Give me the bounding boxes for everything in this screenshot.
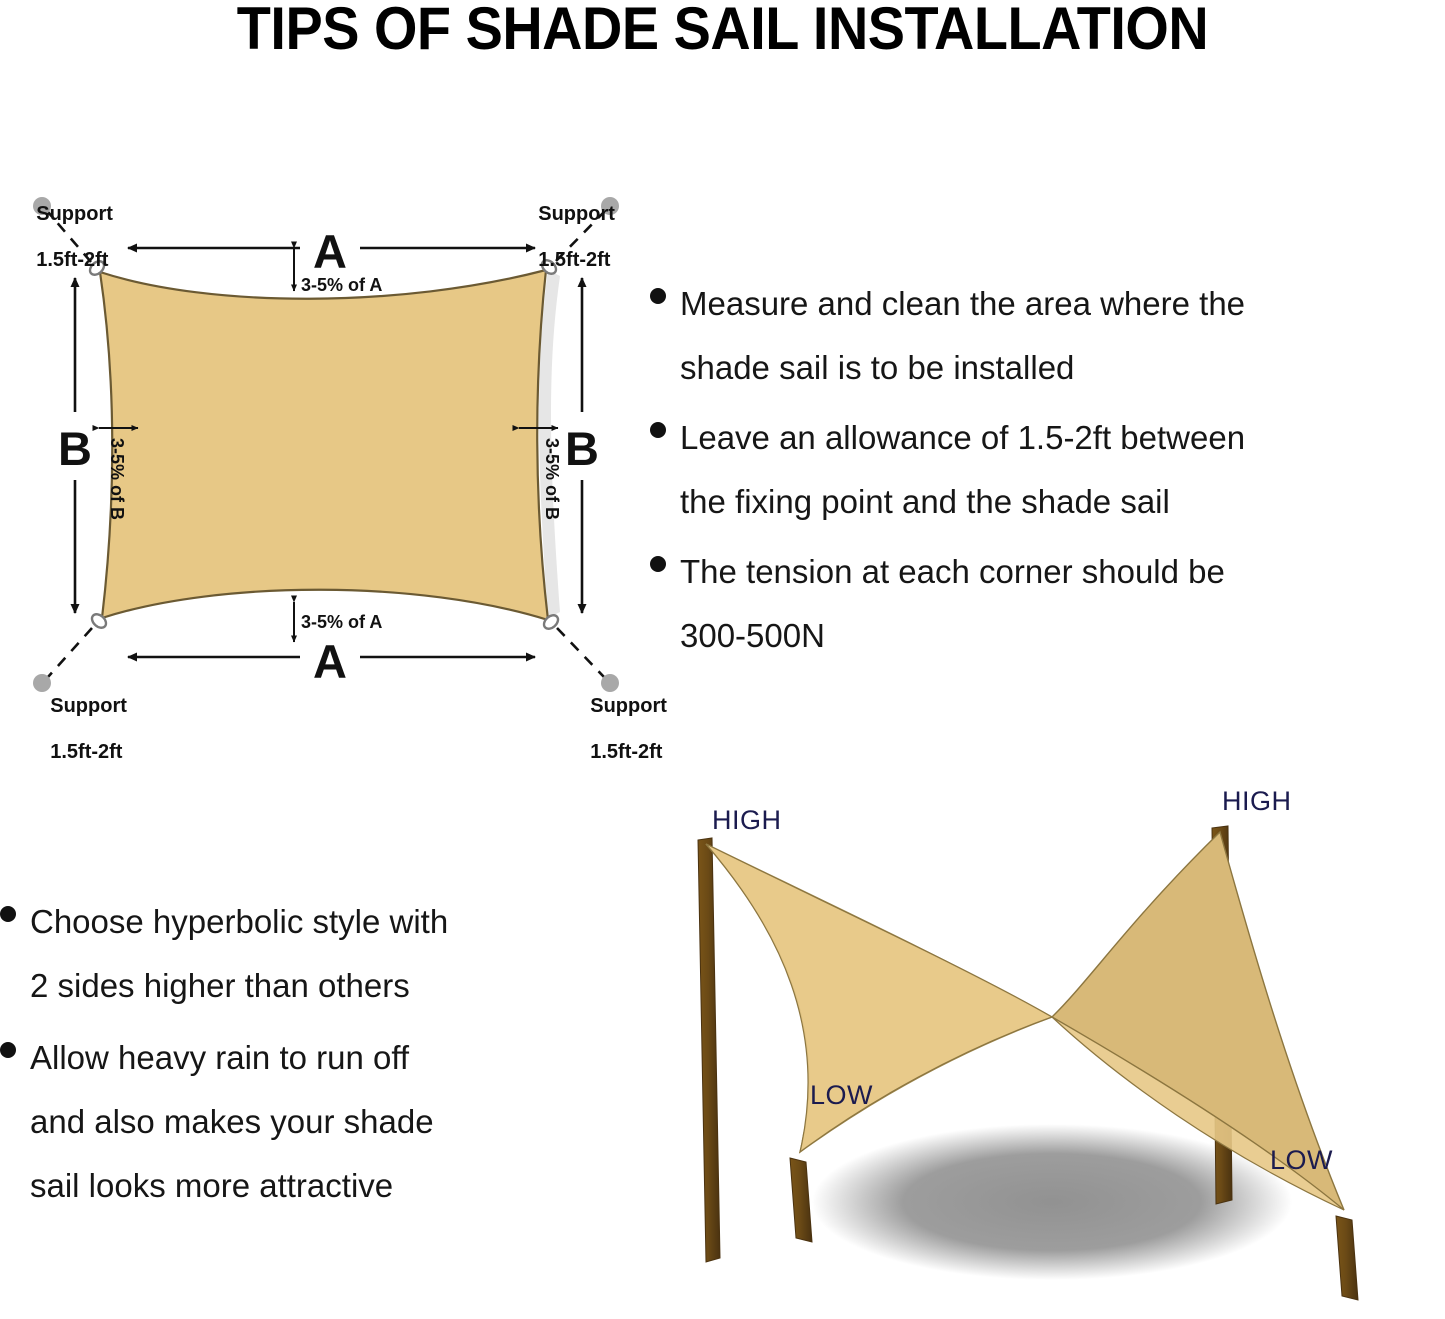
support-label-line2: 1.5ft-2ft: [538, 249, 610, 271]
support-label-line2: 1.5ft-2ft: [36, 249, 108, 271]
list-item: Measure and clean the area where the sha…: [650, 272, 1445, 400]
list-item: Leave an allowance of 1.5-2ft between th…: [650, 406, 1445, 534]
support-label-bottom-left: Support 1.5ft-2ft: [28, 672, 127, 787]
hyper-diagram-svg: [660, 780, 1445, 1319]
support-label-line2: 1.5ft-2ft: [50, 741, 122, 763]
tip-text: Leave an allowance of 1.5-2ft between th…: [680, 406, 1245, 534]
label-high-left: HIGH: [712, 805, 782, 836]
label-curve-left: 3-5% of B: [107, 438, 127, 520]
support-label-bottom-right: Support 1.5ft-2ft: [568, 672, 667, 787]
list-item: Choose hyperbolic style with 2 sides hig…: [0, 890, 640, 1018]
label-a-top: A: [313, 225, 347, 278]
label-curve-top: 3-5% of A: [301, 275, 382, 295]
label-low-left: LOW: [810, 1080, 873, 1111]
post-front-right: [1336, 1216, 1358, 1300]
tips-list-top: Measure and clean the area where the sha…: [650, 272, 1445, 674]
bullet-dot-icon: [650, 556, 666, 572]
label-low-right: LOW: [1270, 1145, 1333, 1176]
support-label-line1: Support: [36, 203, 113, 225]
hyperbolic-sail-diagram: HIGH HIGH LOW LOW: [660, 780, 1445, 1319]
page-title: TIPS OF SHADE SAIL INSTALLATION: [51, 0, 1395, 60]
tip-text: Measure and clean the area where the sha…: [680, 272, 1245, 400]
post-rear-left: [698, 838, 720, 1262]
list-item: The tension at each corner should be 300…: [650, 540, 1445, 668]
support-label-line1: Support: [50, 695, 127, 717]
label-curve-right: 3-5% of B: [542, 438, 562, 520]
bullet-dot-icon: [0, 906, 16, 922]
label-b-left: B: [58, 422, 92, 475]
tip-text: The tension at each corner should be 300…: [680, 540, 1225, 668]
label-a-bottom: A: [313, 635, 347, 688]
shade-sail-shape: [100, 270, 548, 620]
tips-list-bottom: Choose hyperbolic style with 2 sides hig…: [0, 890, 640, 1226]
label-high-right: HIGH: [1222, 786, 1292, 817]
bullet-dot-icon: [650, 288, 666, 304]
support-label-top-left: Support 1.5ft-2ft: [14, 180, 113, 295]
support-label-line2: 1.5ft-2ft: [590, 741, 662, 763]
list-item: Allow heavy rain to run off and also mak…: [0, 1026, 640, 1218]
bullet-dot-icon: [0, 1042, 16, 1058]
tip-text: Allow heavy rain to run off and also mak…: [30, 1026, 434, 1218]
support-label-line1: Support: [590, 695, 667, 717]
support-label-top-right: Support 1.5ft-2ft: [516, 180, 615, 295]
label-b-right: B: [565, 422, 599, 475]
label-curve-bottom: 3-5% of A: [301, 612, 382, 632]
tip-text: Choose hyperbolic style with 2 sides hig…: [30, 890, 448, 1018]
rectangular-sail-diagram: A 3-5% of A A 3-5% of A B 3-5% of B: [0, 150, 660, 730]
post-front-left: [790, 1158, 812, 1242]
support-label-line1: Support: [538, 203, 615, 225]
bullet-dot-icon: [650, 422, 666, 438]
